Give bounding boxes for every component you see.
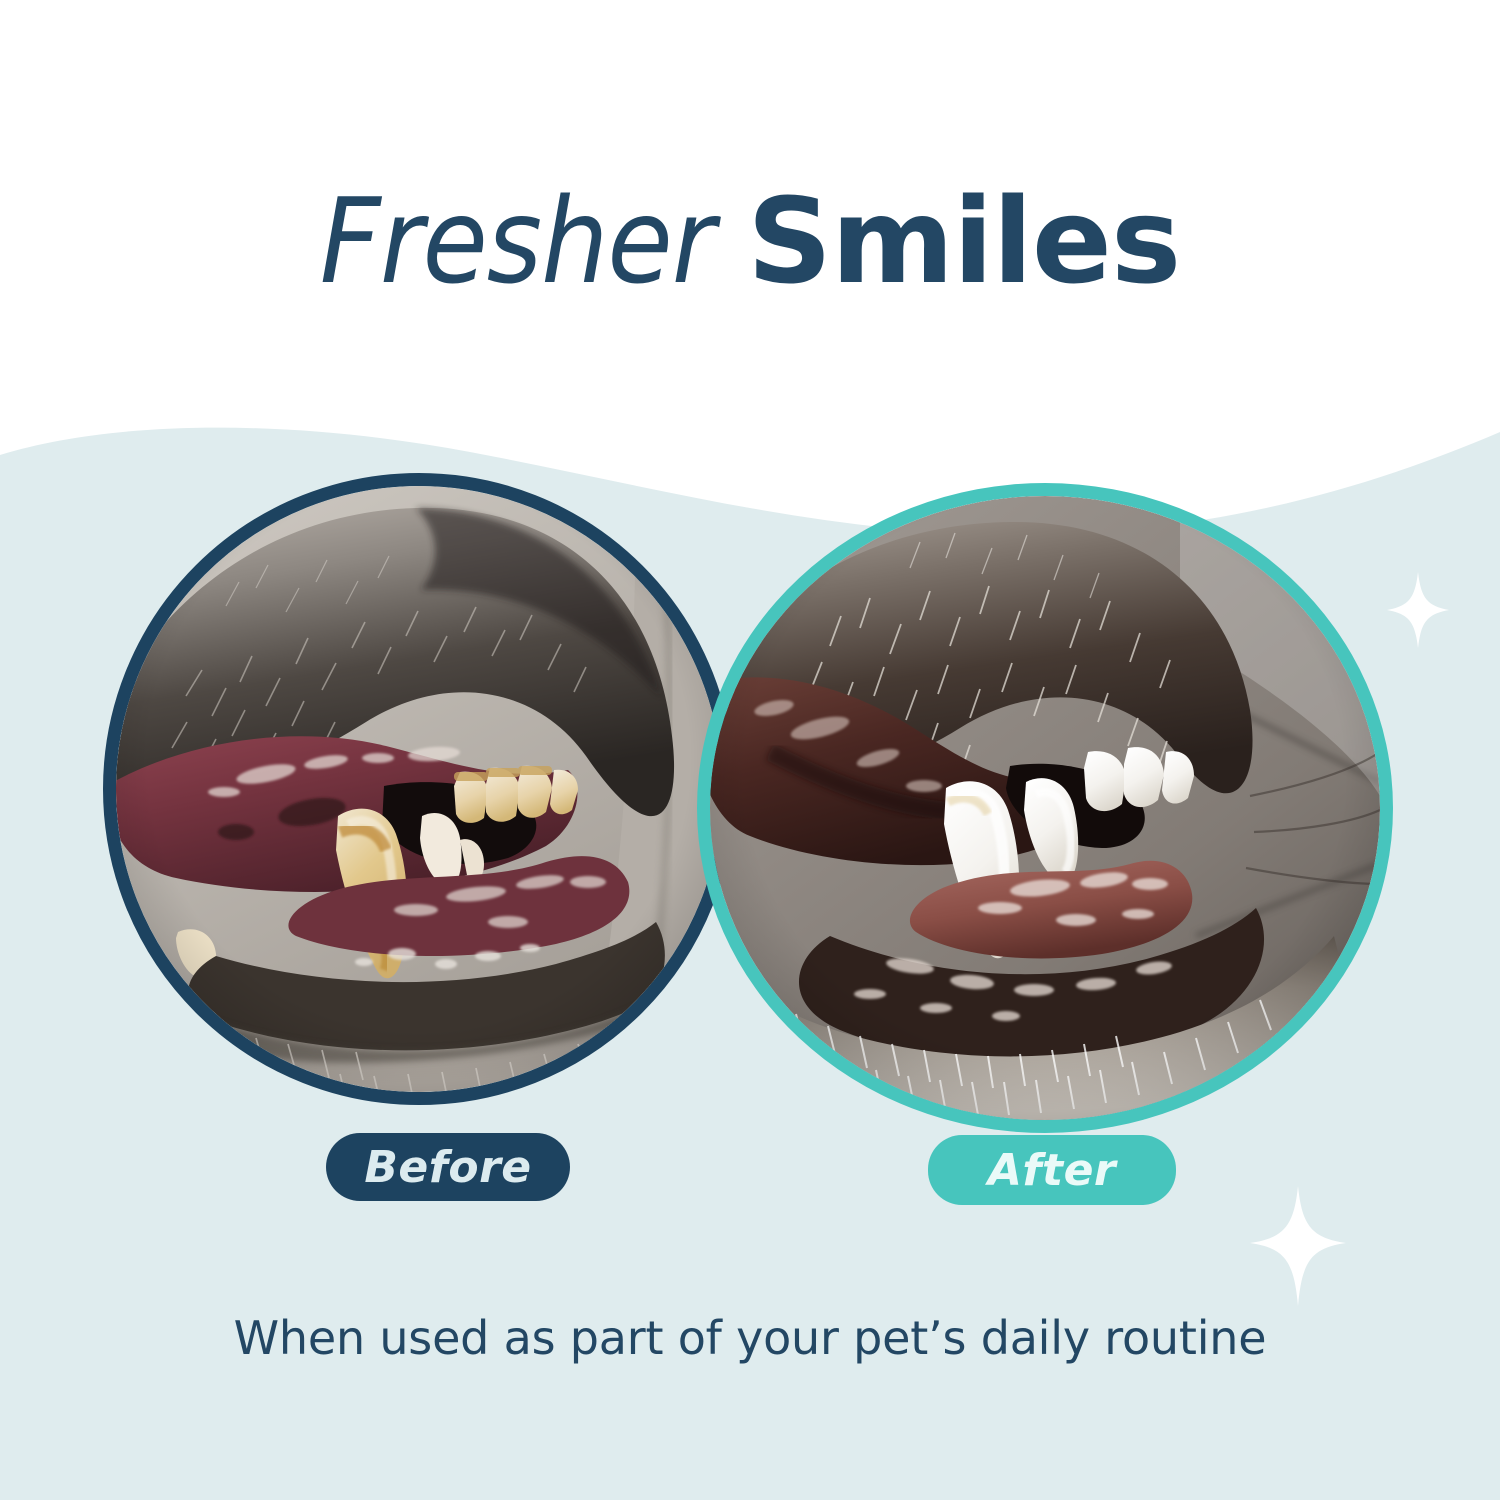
- caption-text: When used as part of your pet’s daily ro…: [0, 1311, 1500, 1365]
- before-photo-circle: [103, 473, 735, 1105]
- before-photo: [116, 486, 722, 1092]
- page-title-light: Fresher: [320, 172, 747, 310]
- before-badge-label: Before: [364, 1142, 531, 1193]
- sparkle-icon: [1250, 1186, 1346, 1306]
- after-photo-circle: [697, 483, 1393, 1133]
- before-badge: Before: [326, 1133, 570, 1201]
- sparkle-icon: [1387, 572, 1449, 648]
- after-photo: [710, 496, 1380, 1120]
- after-badge-label: After: [988, 1145, 1116, 1196]
- page-title: Fresher Smiles: [0, 172, 1500, 310]
- poster-canvas: Fresher Smiles: [0, 0, 1500, 1500]
- after-badge: After: [928, 1135, 1176, 1205]
- page-title-bold: Smiles: [747, 172, 1180, 310]
